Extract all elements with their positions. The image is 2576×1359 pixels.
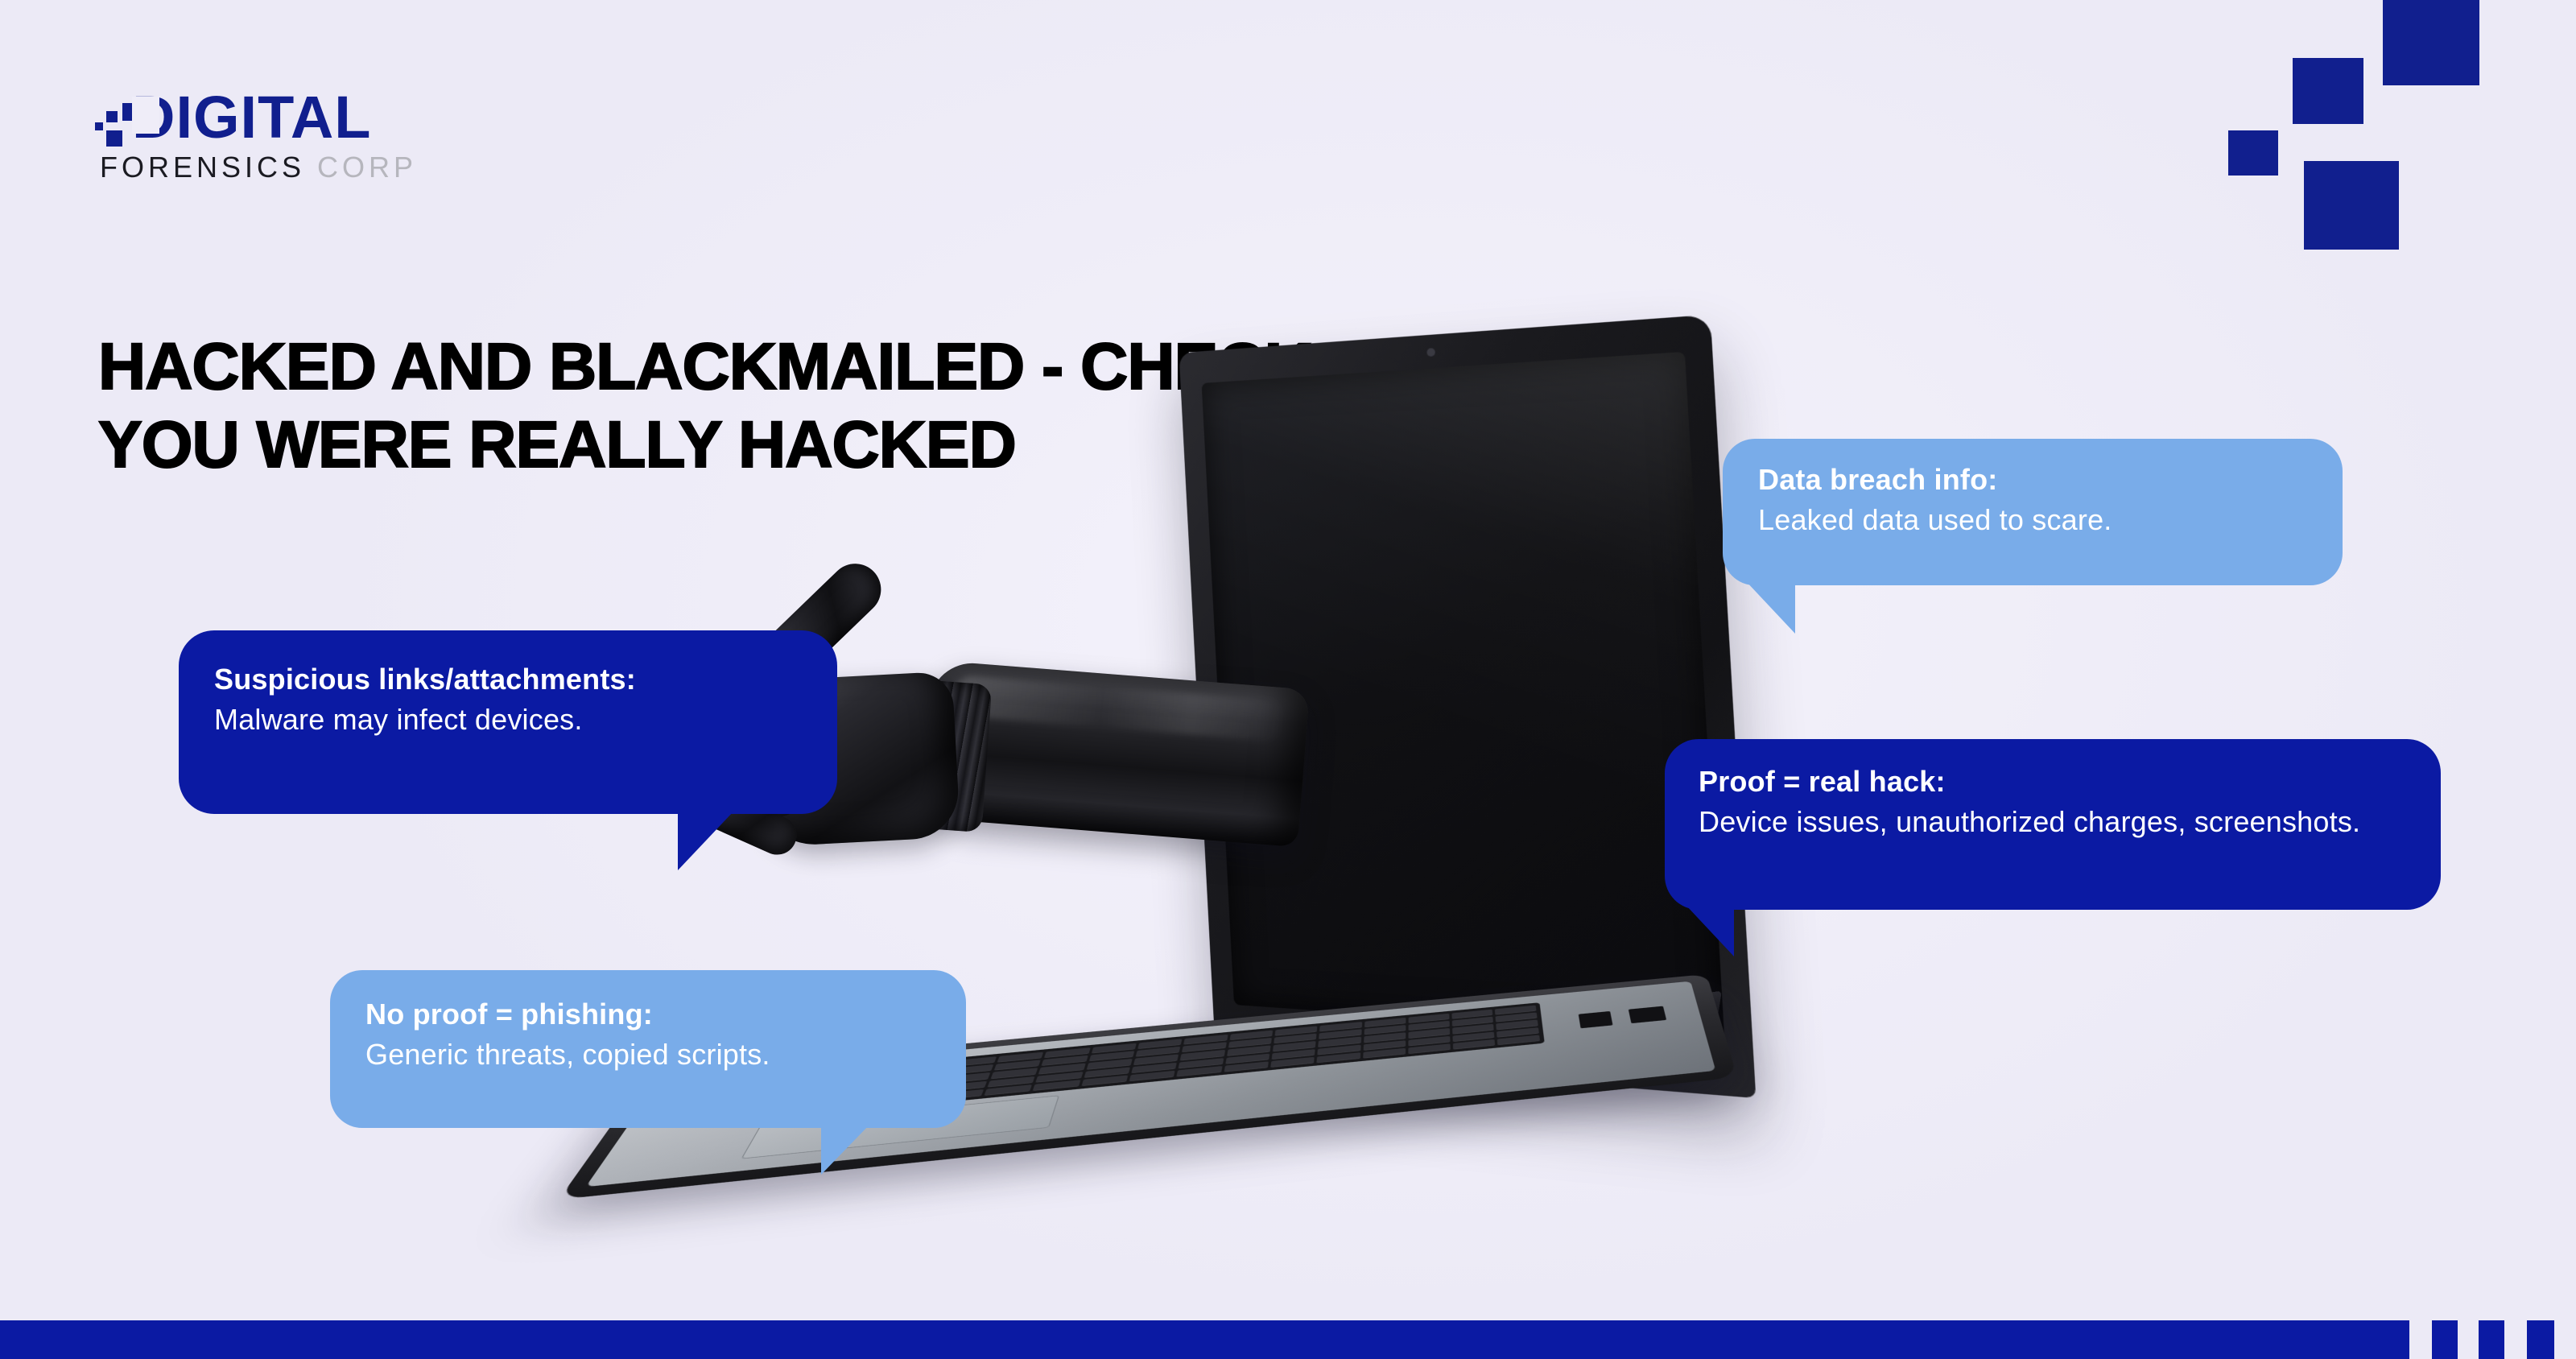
callout-suspicious-links[interactable]: Suspicious links/attachments: Malware ma…	[179, 630, 837, 814]
callout-title: No proof = phishing:	[365, 994, 931, 1035]
callout-body: Device issues, unauthorized charges, scr…	[1699, 802, 2407, 842]
decorative-square-1	[2383, 0, 2479, 85]
logo-wordmark-row: DIGITAL	[95, 87, 514, 148]
callout-tail	[1686, 905, 1734, 956]
brand-logo: DIGITAL FORENSICS CORP	[95, 87, 514, 148]
callout-tail	[821, 1123, 871, 1175]
bottom-accent-chip-3	[2527, 1320, 2554, 1359]
laptop-keyboard	[879, 1002, 1545, 1109]
callout-body: Generic threats, copied scripts.	[365, 1035, 931, 1075]
callout-title: Suspicious links/attachments:	[214, 659, 802, 700]
decorative-square-4	[2304, 161, 2399, 250]
laptop-port-2	[1629, 1006, 1666, 1024]
logo-d-counter-mask	[132, 97, 159, 134]
callout-no-proof-phishing[interactable]: No proof = phishing: Generic threats, co…	[330, 970, 966, 1128]
logo-text-forensics: FORENSICS	[100, 151, 305, 184]
logo-text-digital: DIGITAL	[132, 87, 371, 148]
decorative-square-3	[2228, 130, 2278, 176]
logo-subtitle-row: FORENSICS CORP	[100, 150, 417, 185]
bottom-accent-chip-1	[2432, 1320, 2458, 1359]
infographic-canvas: DIGITAL FORENSICS CORP HACKED AND BLACKM…	[0, 0, 2576, 1359]
pixel-block-1	[95, 122, 103, 130]
logo-text-corp: CORP	[317, 151, 417, 184]
callout-tail	[678, 811, 734, 870]
callout-body: Leaked data used to scare.	[1758, 500, 2307, 540]
webcam-icon	[1426, 348, 1435, 357]
callout-title: Data breach info:	[1758, 460, 2307, 500]
pixel-block-3	[106, 130, 122, 147]
decorative-square-2	[2293, 58, 2363, 124]
bottom-accent-bar	[0, 1320, 2409, 1359]
keyboard-row	[894, 1020, 1538, 1088]
bottom-accent-chip-2	[2479, 1320, 2504, 1359]
callout-body: Malware may infect devices.	[214, 700, 802, 740]
pixel-block-2	[106, 111, 118, 122]
callout-title: Proof = real hack:	[1699, 762, 2407, 802]
callout-tail	[1745, 580, 1795, 634]
callout-data-breach[interactable]: Data breach info: Leaked data used to sc…	[1723, 439, 2343, 585]
laptop-port-1	[1579, 1011, 1612, 1028]
callout-proof-real-hack[interactable]: Proof = real hack: Device issues, unauth…	[1665, 739, 2441, 910]
